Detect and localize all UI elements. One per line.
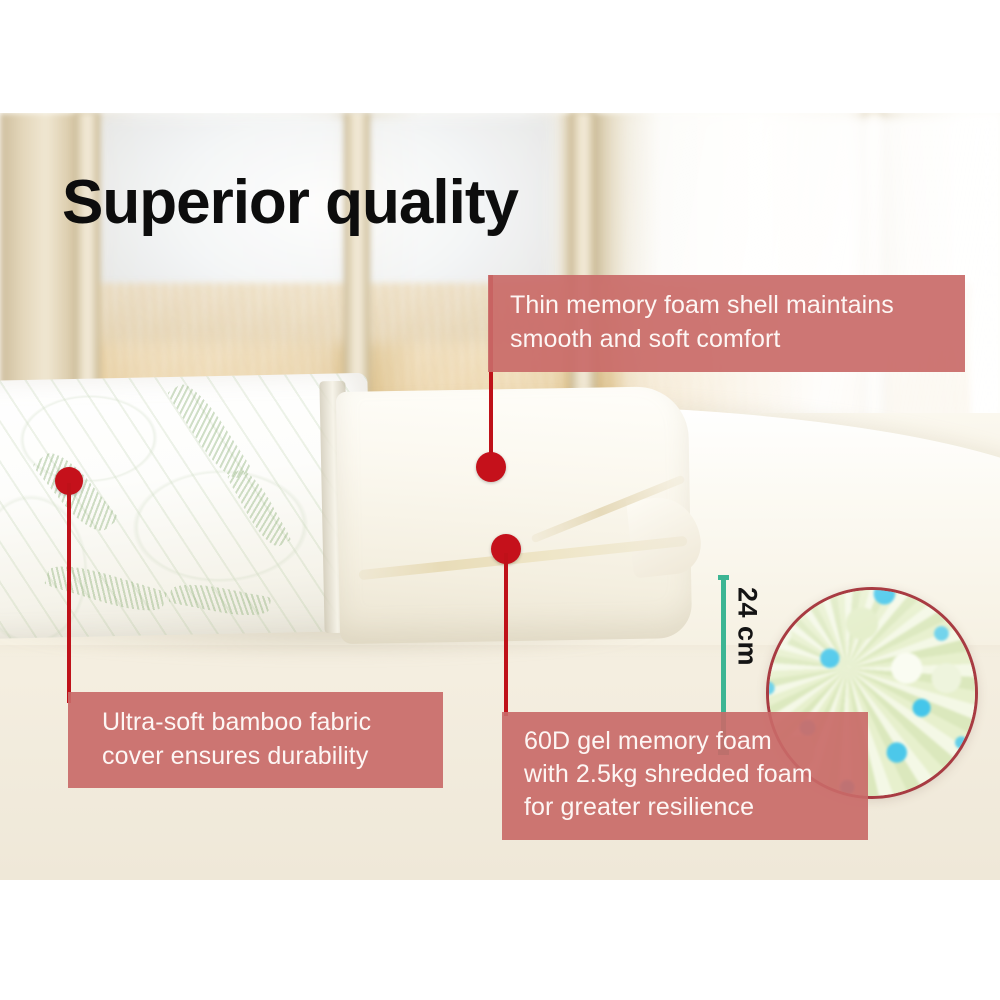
callout-line: Thin memory foam shell maintains xyxy=(510,289,945,323)
leader-line-cover xyxy=(67,483,71,703)
callout-banner-cover: Ultra-soft bamboo fabric cover ensures d… xyxy=(68,692,443,788)
dimension-cap-top xyxy=(718,575,729,580)
pillow-corner-tip xyxy=(626,494,704,579)
callout-line: for greater resilience xyxy=(524,791,848,824)
page-title: Superior quality xyxy=(62,167,518,238)
callout-line: Ultra-soft bamboo fabric xyxy=(102,705,423,739)
callout-dot-shell xyxy=(476,452,506,482)
callout-line: 60D gel memory foam xyxy=(524,725,848,758)
leader-line-foam xyxy=(504,553,508,716)
memory-foam-pillow xyxy=(0,377,710,667)
callout-line: cover ensures durability xyxy=(102,739,423,773)
callout-line: smooth and soft comfort xyxy=(510,323,945,357)
dimension-label: 24 cm xyxy=(732,572,763,682)
bamboo-fabric-cover xyxy=(0,373,373,639)
callout-line: with 2.5kg shredded foam xyxy=(524,758,848,791)
product-feature-image: 24 cm Superior quality Thin memory foam … xyxy=(0,0,1000,1000)
callout-banner-foam: 60D gel memory foam with 2.5kg shredded … xyxy=(502,712,868,840)
callout-banner-shell: Thin memory foam shell maintains smooth … xyxy=(488,275,965,372)
